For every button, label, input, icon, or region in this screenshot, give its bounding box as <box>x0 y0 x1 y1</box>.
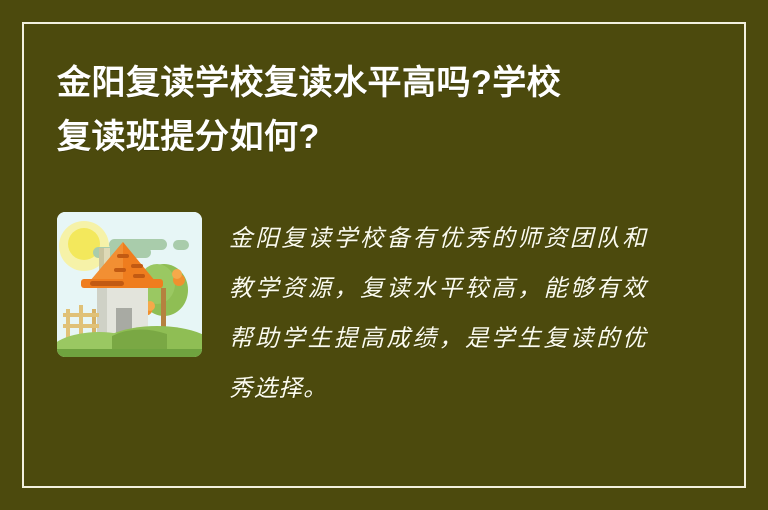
title-line-2: 复读班提分如何? <box>57 110 677 164</box>
page-title: 金阳复读学校复读水平高吗?学校 复读班提分如何? <box>57 56 677 164</box>
body-paragraph: 金阳复读学校备有优秀的师资团队和教学资源，复读水平较高，能够有效帮助学生提高成绩… <box>229 214 647 414</box>
house-countryside-illustration <box>57 212 202 357</box>
illustration-svg <box>57 212 202 357</box>
poster-canvas: 金阳复读学校复读水平高吗?学校 复读班提分如何? <box>0 0 768 510</box>
title-line-1: 金阳复读学校复读水平高吗?学校 <box>57 56 677 110</box>
content-row: 金阳复读学校备有优秀的师资团队和教学资源，复读水平较高，能够有效帮助学生提高成绩… <box>57 212 711 414</box>
body-block: 金阳复读学校备有优秀的师资团队和教学资源，复读水平较高，能够有效帮助学生提高成绩… <box>229 212 711 414</box>
